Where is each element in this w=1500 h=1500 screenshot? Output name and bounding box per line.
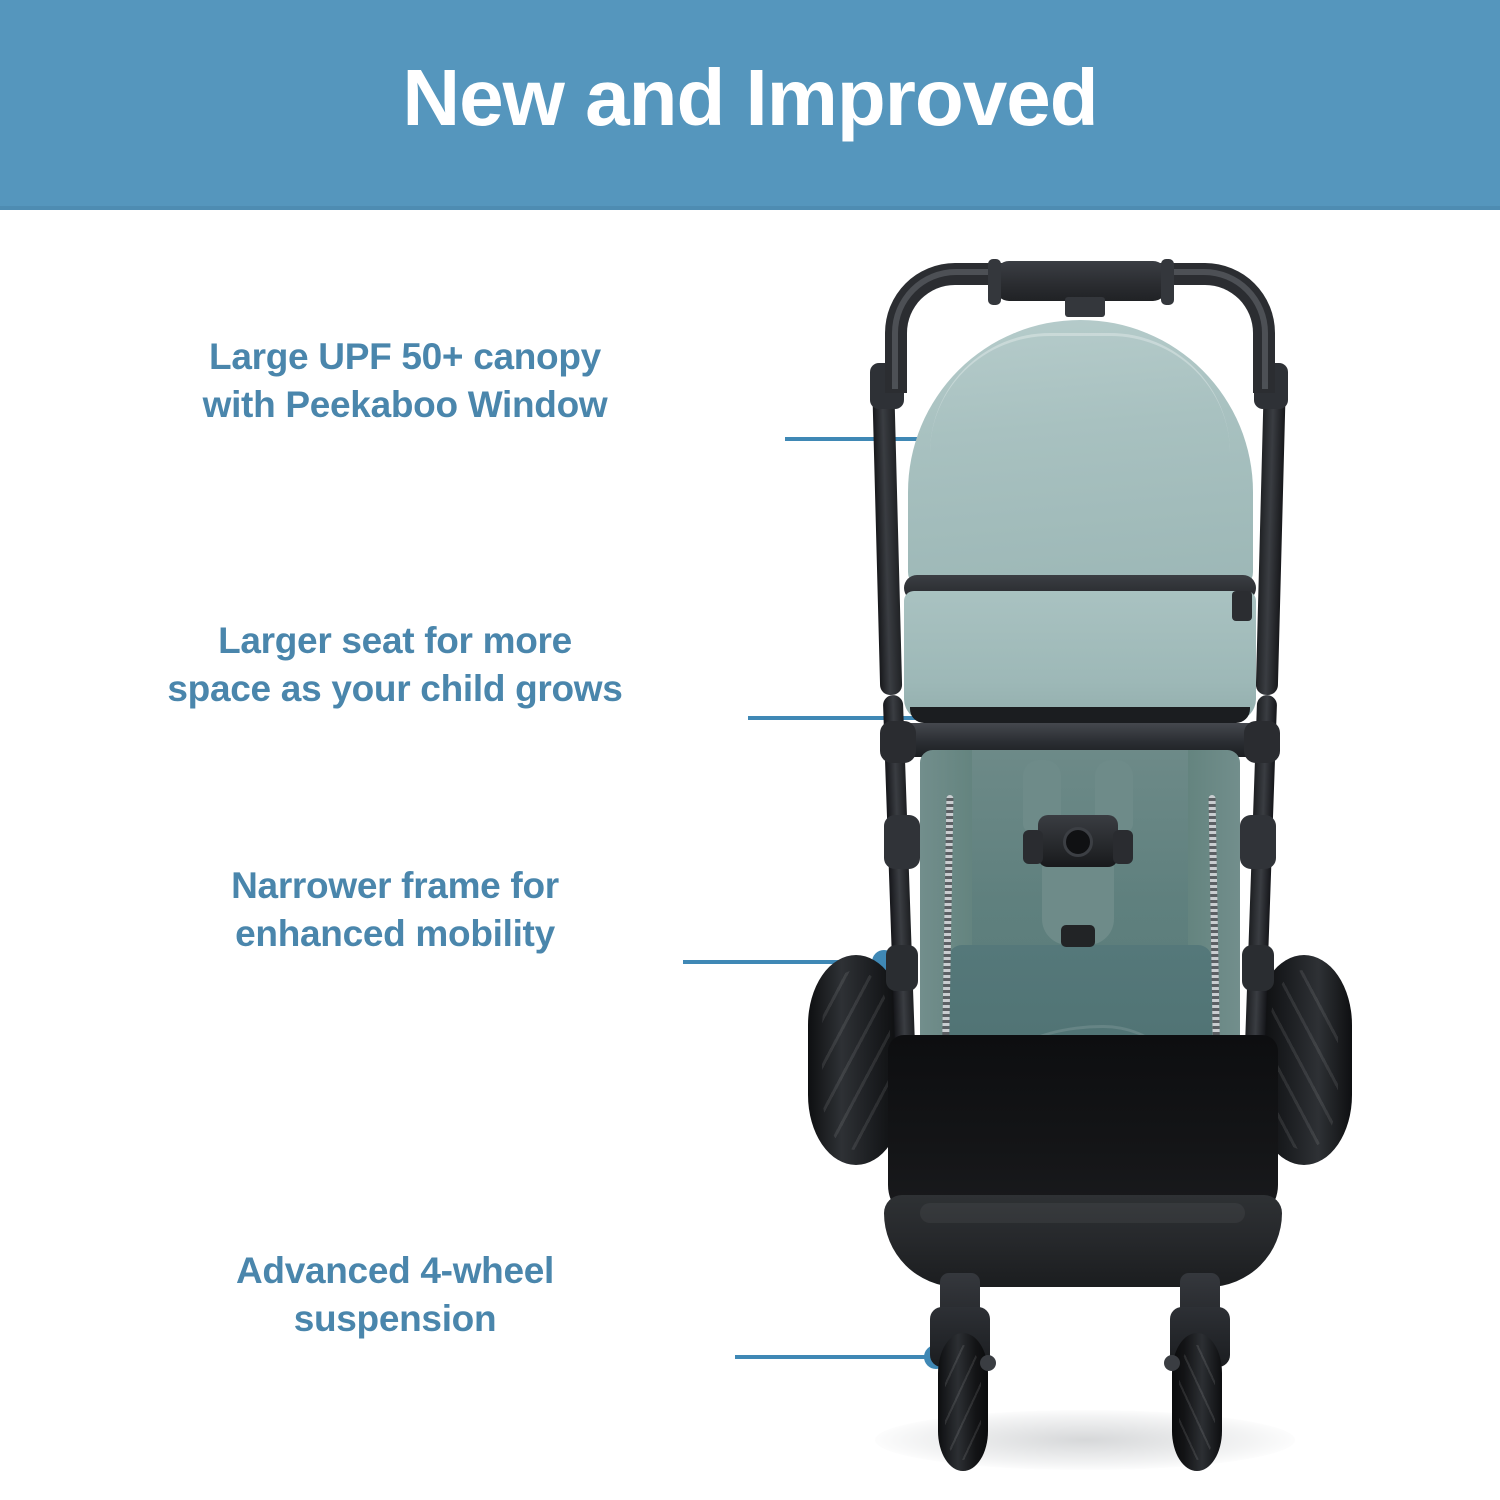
frame-hinge-lower-right [1242,945,1274,991]
frame-hinge-right [1240,815,1276,869]
handlebar-tab [1065,297,1105,317]
feature-label-seat-line1: Larger seat for more [85,617,705,665]
harness-crotch-strap [1061,925,1095,947]
feature-label-suspension-line2: suspension [105,1295,685,1343]
harness-strap-left [1023,830,1043,864]
feature-label-suspension-line1: Advanced 4-wheel [105,1247,685,1295]
front-axle-cap-left [980,1355,996,1371]
handle-post-left [872,365,903,695]
feature-label-seat: Larger seat for more space as your child… [85,617,705,713]
canopy-clip-right [1232,591,1252,621]
feature-label-frame-line2: enhanced mobility [105,910,685,958]
handlebar-ring-right [1161,259,1174,305]
canopy-panel-lower [904,591,1256,721]
harness-strap-right [1113,830,1133,864]
page-title: New and Improved [402,58,1097,148]
feature-label-suspension: Advanced 4-wheel suspension [105,1247,685,1343]
feature-label-frame: Narrower frame for enhanced mobility [105,862,685,958]
canopy-panel-edge [910,707,1250,723]
front-wheel-left-tread [945,1345,981,1460]
rear-wheel-left-tread [822,970,890,1150]
feature-label-canopy-line1: Large UPF 50+ canopy [95,333,715,381]
bumper-bar-mount-left [880,721,916,763]
front-wheel-right-tread [1179,1345,1215,1460]
handlebar-center-grip [995,261,1167,301]
storage-basket-highlight [920,1203,1245,1223]
frame-hinge-left [884,815,920,869]
bumper-bar-mount-right [1244,721,1280,763]
feature-label-canopy: Large UPF 50+ canopy with Peekaboo Windo… [95,333,715,429]
feature-label-frame-line1: Narrower frame for [105,862,685,910]
front-axle-cap-right [1164,1355,1180,1371]
feature-label-seat-line2: space as your child grows [85,665,705,713]
frame-hinge-lower-left [886,945,918,991]
feature-label-canopy-line2: with Peekaboo Window [95,381,715,429]
header-banner: New and Improved [0,0,1500,210]
stroller-product-image [780,255,1380,1485]
handle-post-right [1256,365,1287,695]
rear-wheel-right-tread [1270,970,1338,1150]
handlebar-ring-left [988,259,1001,305]
infographic-page: New and Improved Large UPF 50+ canopy wi… [0,0,1500,1500]
harness-buckle-release [1063,827,1093,857]
